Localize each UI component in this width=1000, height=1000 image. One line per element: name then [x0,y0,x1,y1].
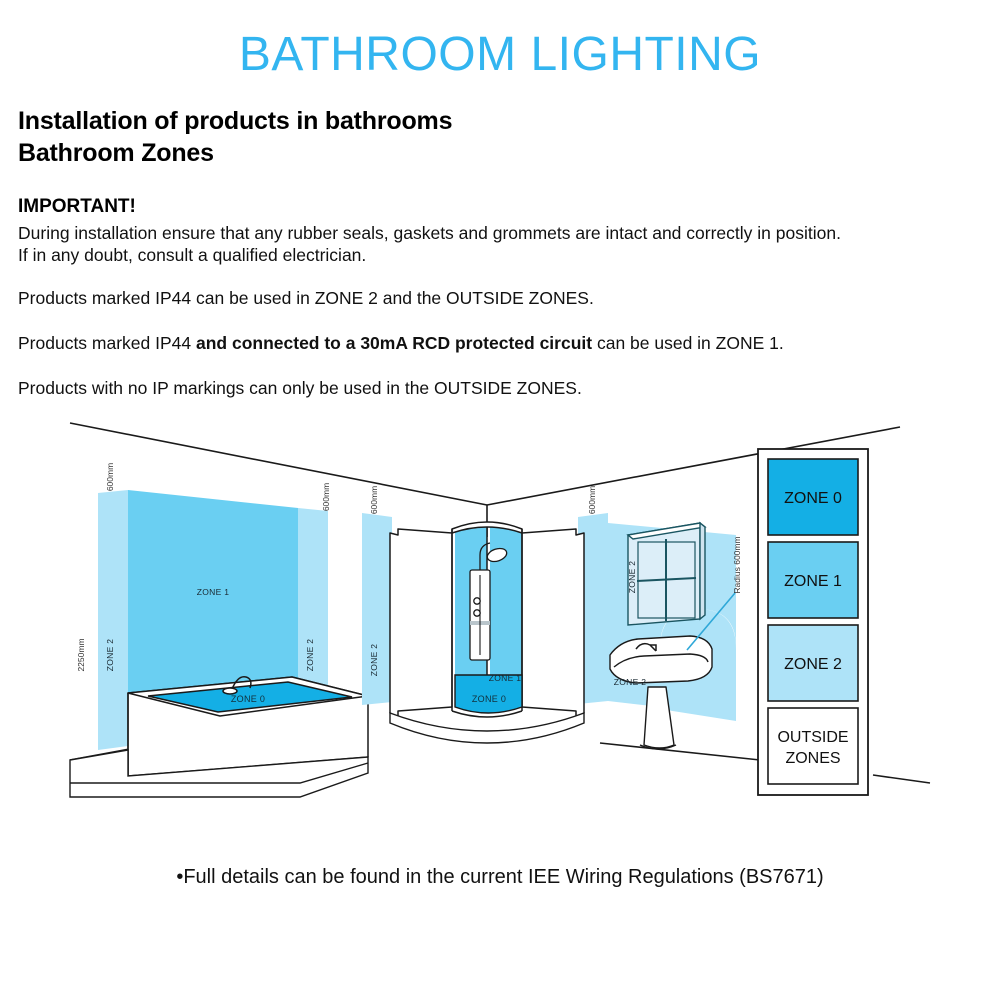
bath-dim-height-2250: 2250mm [76,638,86,671]
rcd-suffix: can be used in ZONE 1. [592,333,784,353]
subtitle-installation: Installation of products in bathrooms [18,107,452,136]
legend-item-zone-2[interactable]: ZONE 2 [768,625,858,701]
window-icon [628,523,705,625]
bath-dim-left-600: 600mm [105,463,115,491]
rcd-bold: and connected to a 30mA RCD protected ci… [196,333,592,353]
shower-zone0-label: ZONE 0 [472,694,506,704]
notice-ip44-zone2: Products marked IP44 can be used in ZONE… [18,287,594,309]
notice-no-ip: Products with no IP markings can only be… [18,377,582,399]
page-root: BATHROOM LIGHTING Installation of produc… [0,0,1000,1000]
bathroom-zones-diagram: ZONE 1 ZONE 0 ZONE 2 ZONE 2 2250mm 600mm… [0,405,1000,855]
basin-radius-label: Radius 600mm [732,536,742,593]
legend-item-outside-zones[interactable]: OUTSIDE ZONES [768,708,858,784]
subtitle-bathroom-zones: Bathroom Zones [18,139,214,168]
legend-label-zone-0: ZONE 0 [784,490,842,507]
legend-label-outside-line1: OUTSIDE [777,729,848,746]
bath-dim-right-600: 600mm [321,483,331,511]
page-title: BATHROOM LIGHTING [0,27,1000,82]
important-label: IMPORTANT! [18,196,136,218]
rcd-prefix: Products marked IP44 [18,333,196,353]
footer-note: •Full details can be found in the curren… [0,866,1000,889]
legend-item-zone-0[interactable]: ZONE 0 [768,459,858,535]
notice-line-2: If in any doubt, consult a qualified ele… [18,244,366,266]
legend-label-zone-1: ZONE 1 [784,573,842,590]
shower-dim-right-600: 600mm [587,486,597,514]
legend-item-zone-1[interactable]: ZONE 1 [768,542,858,618]
legend-label-outside-line2: ZONES [785,750,840,767]
bath-zone2-right-label: ZONE 2 [305,639,315,672]
bath-zone2-left-label: ZONE 2 [105,639,115,672]
bath-zone1-label: ZONE 1 [197,587,230,597]
shower-dim-left-600: 600mm [369,486,379,514]
bath-zone2-left-strip [98,490,128,750]
notice-line-1: During installation ensure that any rubb… [18,222,841,244]
notice-rcd-zone1: Products marked IP44 and connected to a … [18,332,784,354]
legend-label-zone-2: ZONE 2 [784,656,842,673]
shower-zone1-label: ZONE 1 [489,673,522,683]
bath-zone0-label: ZONE 0 [231,694,265,704]
legend-panel: ZONE 0 ZONE 1 ZONE 2 OUTSIDE ZONES [758,449,868,795]
basin-zone2-label: ZONE 2 [614,677,647,687]
shower-zone2-left-label: ZONE 2 [369,644,379,677]
window-zone2-label: ZONE 2 [627,561,637,594]
